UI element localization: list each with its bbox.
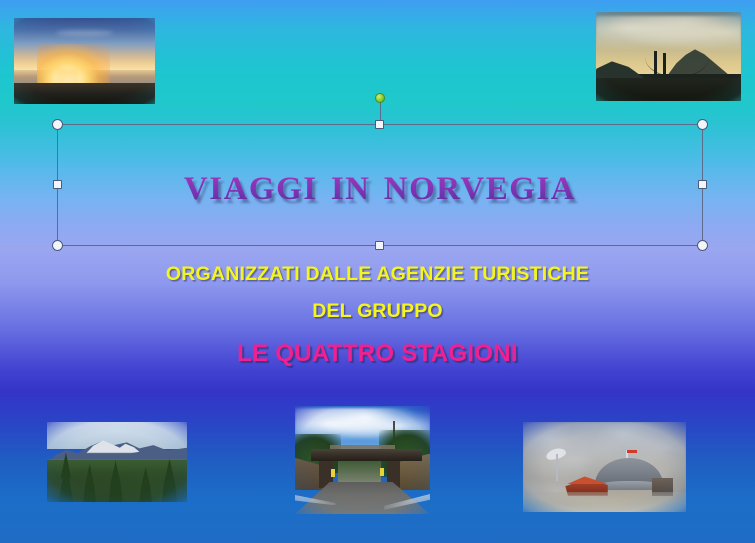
photo-bridge-content	[596, 12, 741, 101]
bridge-foreground	[596, 78, 741, 101]
photo-road-content	[295, 406, 430, 514]
bridge-tower-right	[663, 53, 666, 78]
photo-lodge-content	[523, 422, 686, 512]
lodge-mast	[556, 454, 558, 481]
resize-handle-bottom-right[interactable]	[697, 240, 708, 251]
road-sign-left	[331, 469, 335, 478]
bridge-tower-left	[654, 51, 657, 78]
photo-sunset-over-water[interactable]	[14, 18, 155, 104]
slide-subtitle-line-2[interactable]: DEL GRUPPO	[0, 300, 755, 323]
bridge-span	[311, 449, 422, 461]
bridge-clouds	[596, 16, 741, 55]
lodge-foreground	[523, 492, 686, 512]
resize-handle-top-middle[interactable]	[375, 120, 384, 129]
slide-tagline[interactable]: LE QUATTRO STAGIONI	[0, 340, 755, 368]
sunset-foreground	[14, 83, 155, 104]
rotation-handle[interactable]	[375, 93, 385, 103]
photo-snow-capped-mountains-with-conifers[interactable]	[47, 422, 187, 502]
photo-road-under-stone-bridge[interactable]	[295, 406, 430, 514]
resize-handle-right-middle[interactable]	[698, 180, 707, 189]
resize-handle-top-left[interactable]	[52, 119, 63, 130]
resize-handle-bottom-middle[interactable]	[375, 241, 384, 250]
slide-subtitle-line-1[interactable]: ORGANIZZATI DALLE AGENZIE TURISTICHE	[0, 263, 755, 286]
resize-handle-left-middle[interactable]	[53, 180, 62, 189]
resize-handle-top-right[interactable]	[697, 119, 708, 130]
lodge-flag	[627, 450, 637, 454]
photo-mountain-content	[47, 422, 187, 502]
presentation-slide: Viaggi in Norvegia ORGANIZZATI DALLE AGE…	[0, 0, 755, 543]
photo-sunset-content	[14, 18, 155, 104]
photo-red-lodge-with-domed-roof[interactable]	[523, 422, 686, 512]
photo-suspension-bridge-at-dusk[interactable]	[596, 12, 741, 101]
resize-handle-bottom-left[interactable]	[52, 240, 63, 251]
road-sign-right	[380, 468, 384, 477]
title-placeholder-selection-frame[interactable]	[57, 124, 703, 246]
sunset-cloud	[56, 30, 112, 36]
